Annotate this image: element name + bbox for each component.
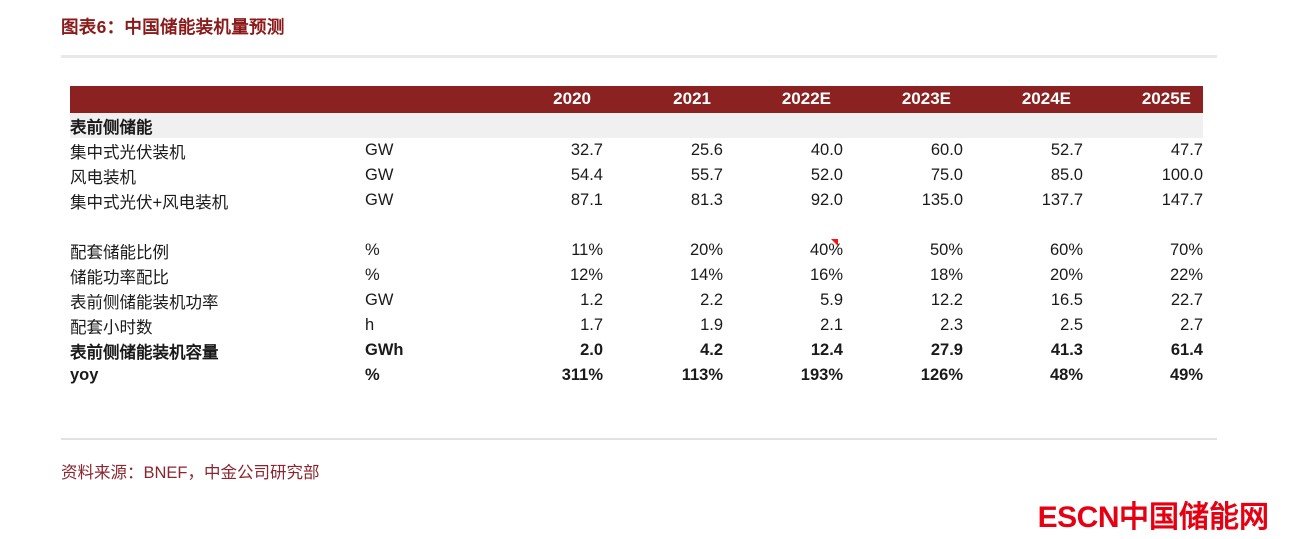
column-header-2025e: 2025E [1083,86,1203,113]
row-value-2022e: 12.4 [723,338,843,363]
row-value-2024e: 41.3 [963,338,1083,363]
row-unit: GWh [365,338,483,363]
row-value-2022e: 40% [723,238,843,263]
row-unit: % [365,363,483,388]
row-value-2024e: 16.5 [963,288,1083,313]
table-bottom-divider [61,438,1217,440]
row-value-2021: 20% [603,238,723,263]
section-value-cell [483,113,603,138]
row-value-2020: 87.1 [483,188,603,213]
title-divider [61,55,1217,58]
section-value-cell [843,113,963,138]
table-row: 配套小时数 h 1.7 1.9 2.1 2.3 2.5 2.7 [70,313,1203,338]
section-value-cell [723,113,843,138]
source-note: 资料来源：BNEF，中金公司研究部 [61,459,320,483]
row-value-2024e: 2.5 [963,313,1083,338]
row-value-2022e: 5.9 [723,288,843,313]
row-value-2023e: 12.2 [843,288,963,313]
row-label: 储能功率配比 [70,263,365,288]
row-value-2022e: 52.0 [723,163,843,188]
table-row: 集中式光伏装机 GW 32.7 25.6 40.0 60.0 52.7 47.7 [70,138,1203,163]
table-row: 表前侧储能装机容量 GWh 2.0 4.2 12.4 27.9 41.3 61.… [70,338,1203,363]
row-value-2020: 32.7 [483,138,603,163]
row-value-2021: 1.9 [603,313,723,338]
table-row: 表前侧储能装机功率 GW 1.2 2.2 5.9 12.2 16.5 22.7 [70,288,1203,313]
row-unit: h [365,313,483,338]
row-value-2023e: 50% [843,238,963,263]
row-value-2024e: 137.7 [963,188,1083,213]
row-value-2025e: 47.7 [1083,138,1203,163]
row-value-2022e: 16% [723,263,843,288]
section-label: 表前侧储能 [70,113,365,138]
row-value-2023e: 135.0 [843,188,963,213]
row-value-2020: 1.7 [483,313,603,338]
column-header-2021: 2021 [603,86,723,113]
column-header-2022e: 2022E [723,86,843,113]
comment-marker-icon [831,239,838,246]
row-value-2021: 14% [603,263,723,288]
row-value-2021: 2.2 [603,288,723,313]
row-value-2025e: 2.7 [1083,313,1203,338]
table-header-row: 2020 2021 2022E 2023E 2024E 2025E [70,86,1203,113]
column-header-2020: 2020 [483,86,603,113]
table-row: 配套储能比例 % 11% 20% 40% 50% 60% 70% [70,238,1203,263]
row-value-2020: 12% [483,263,603,288]
row-value-2023e: 27.9 [843,338,963,363]
section-value-cell [603,113,723,138]
table-row: 风电装机 GW 54.4 55.7 52.0 75.0 85.0 100.0 [70,163,1203,188]
row-value-2023e: 75.0 [843,163,963,188]
row-unit: GW [365,163,483,188]
row-unit: % [365,238,483,263]
row-value-2020: 54.4 [483,163,603,188]
escn-logo-latin: ESCN [1038,501,1119,534]
row-value-2025e: 147.7 [1083,188,1203,213]
section-value-cell [1083,113,1203,138]
forecast-table-wrapper: 2020 2021 2022E 2023E 2024E 2025E 表前侧储能 [70,86,1203,388]
row-value-2020: 11% [483,238,603,263]
row-value-2024e: 60% [963,238,1083,263]
row-label: 表前侧储能装机功率 [70,288,365,313]
row-value-2021: 81.3 [603,188,723,213]
row-value-2022e: 92.0 [723,188,843,213]
row-value-2020: 311% [483,363,603,388]
row-value-2021: 4.2 [603,338,723,363]
row-value-2021: 113% [603,363,723,388]
row-unit: % [365,263,483,288]
row-value-2021: 25.6 [603,138,723,163]
column-header-label [70,86,365,113]
table-row: 储能功率配比 % 12% 14% 16% 18% 20% 22% [70,263,1203,288]
row-value-2021: 55.7 [603,163,723,188]
row-value-2025e: 61.4 [1083,338,1203,363]
table-section-row: 表前侧储能 [70,113,1203,138]
page-title: 图表6：中国储能装机量预测 [61,14,1241,39]
table-row: 集中式光伏+风电装机 GW 87.1 81.3 92.0 135.0 137.7… [70,188,1203,213]
column-header-2023e: 2023E [843,86,963,113]
row-value-2025e: 22.7 [1083,288,1203,313]
row-label: 配套储能比例 [70,238,365,263]
table-spacer-row [70,213,1203,238]
row-value-2025e: 22% [1083,263,1203,288]
forecast-table: 2020 2021 2022E 2023E 2024E 2025E 表前侧储能 [70,86,1203,388]
row-label: 风电装机 [70,163,365,188]
row-value-2023e: 126% [843,363,963,388]
row-unit: GW [365,288,483,313]
column-header-unit [365,86,483,113]
row-value-2025e: 100.0 [1083,163,1203,188]
row-value-2022e: 40.0 [723,138,843,163]
row-value-2023e: 60.0 [843,138,963,163]
escn-logo-chinese: 中国储能网 [1119,501,1269,534]
row-value-2022e: 2.1 [723,313,843,338]
row-value-2023e: 18% [843,263,963,288]
escn-logo: ESCN中国储能网 [1038,492,1269,536]
section-value-cell [963,113,1083,138]
row-unit: GW [365,188,483,213]
row-value-2024e: 20% [963,263,1083,288]
column-header-2024e: 2024E [963,86,1083,113]
exhibit-title-block: 图表6：中国储能装机量预测 [61,14,1241,39]
section-unit-cell [365,113,483,138]
row-label: 集中式光伏装机 [70,138,365,163]
row-value-2024e: 85.0 [963,163,1083,188]
table-row: yoy % 311% 113% 193% 126% 48% 49% [70,363,1203,388]
row-unit: GW [365,138,483,163]
row-value-2022e-text: 40% [810,241,843,259]
row-value-2025e: 49% [1083,363,1203,388]
row-value-2020: 2.0 [483,338,603,363]
table-body: 表前侧储能 集中式光伏装机 GW 32.7 25.6 40.0 60.0 52.… [70,113,1203,388]
row-label: yoy [70,363,365,388]
row-label: 配套小时数 [70,313,365,338]
row-value-2023e: 2.3 [843,313,963,338]
row-value-2025e: 70% [1083,238,1203,263]
row-value-2020: 1.2 [483,288,603,313]
row-value-2024e: 48% [963,363,1083,388]
row-label: 集中式光伏+风电装机 [70,188,365,213]
row-value-2024e: 52.7 [963,138,1083,163]
table-header: 2020 2021 2022E 2023E 2024E 2025E [70,86,1203,113]
row-label: 表前侧储能装机容量 [70,338,365,363]
row-value-2022e: 193% [723,363,843,388]
